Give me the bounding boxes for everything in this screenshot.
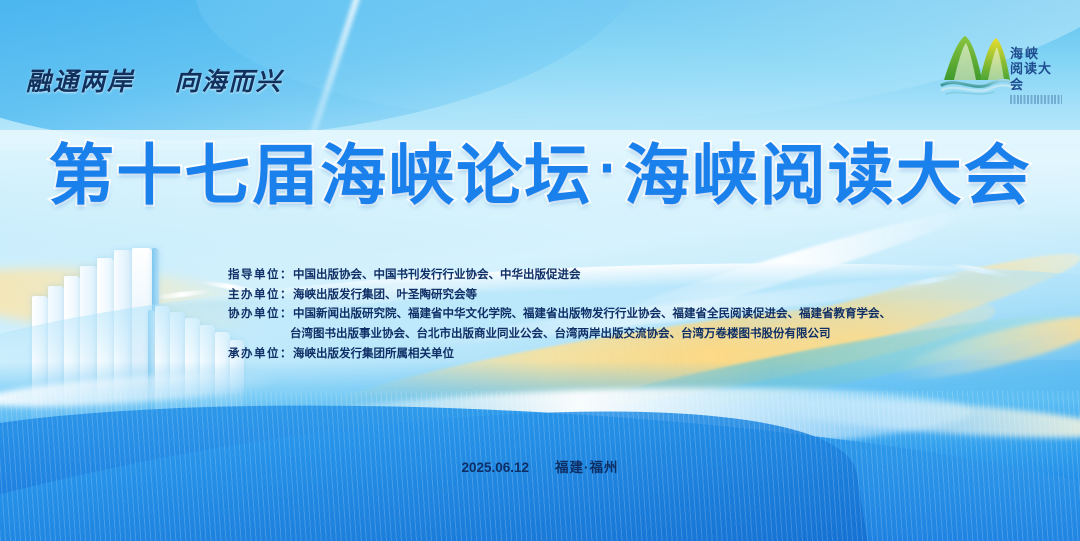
title-part-two: 海峡阅读大会 [624,137,1032,214]
organizer-list: 指导单位：中国出版协会、中国书刊发行行业协会、中华出版促进会 主办单位：海峡出版… [228,266,891,365]
logo-microtext [1010,95,1062,104]
slogan-part-one: 融通两岸 [26,69,134,96]
guidance-label: 指导单位： [228,269,293,281]
slogan-part-two: 向海而兴 [175,69,283,96]
title-part-one: 第十七届海峡论坛 [48,137,592,214]
organizer-row-guidance: 指导单位：中国出版协会、中国书刊发行行业协会、中华出版促进会 [228,266,891,286]
logo-wordmark: 海峡 阅读大会 [1010,46,1064,104]
event-banner: 融通两岸 向海而兴 第十七届海峡论坛·海峡阅读大会 指导单位：中国出版协会、中国… [0,0,1080,541]
host-label: 主办单位： [228,289,293,301]
coorganizer-value-line-one: 中国新闻出版研究院、福建省中华文化学院、福建省出版物发行行业协会、福建省全民阅读… [293,308,891,320]
coorganizer-value-line-two: 台湾图书出版事业协会、台北市出版商业同业公会、台湾两岸出版交流协会、台湾万卷楼图… [290,328,831,340]
event-footer: 2025.06.12福建·福州 [0,456,1080,476]
organizer-row-coorganizer: 协办单位：中国新闻出版研究院、福建省中华文化学院、福建省出版物发行行业协会、福建… [228,305,891,325]
organizer-row-undertaker: 承办单位：海峡出版发行集团所属相关单位 [228,345,891,365]
event-slogan: 融通两岸 向海而兴 [26,62,283,98]
undertaker-value: 海峡出版发行集团所属相关单位 [293,348,454,360]
event-date: 2025.06.12 [461,460,529,475]
coorganizer-label: 协办单位： [228,308,293,320]
strait-reading-logo-icon [940,30,1014,96]
undertaker-label: 承办单位： [228,348,293,360]
page-title: 第十七届海峡论坛·海峡阅读大会 [0,143,1080,209]
logo-line-two: 阅读大会 [1010,61,1064,93]
organizer-row-host: 主办单位：海峡出版发行集团、叶圣陶研究会等 [228,286,891,306]
event-logo: 海峡 阅读大会 [940,30,1066,104]
logo-line-one: 海峡 [1010,46,1064,61]
title-separator: · [592,141,623,195]
host-value: 海峡出版发行集团、叶圣陶研究会等 [293,289,477,301]
guidance-value: 中国出版协会、中国书刊发行行业协会、中华出版促进会 [293,269,581,281]
event-location: 福建·福州 [555,460,619,475]
organizer-row-coorganizer-cont: 台湾图书出版事业协会、台北市出版商业同业公会、台湾两岸出版交流协会、台湾万卷楼图… [228,325,891,345]
